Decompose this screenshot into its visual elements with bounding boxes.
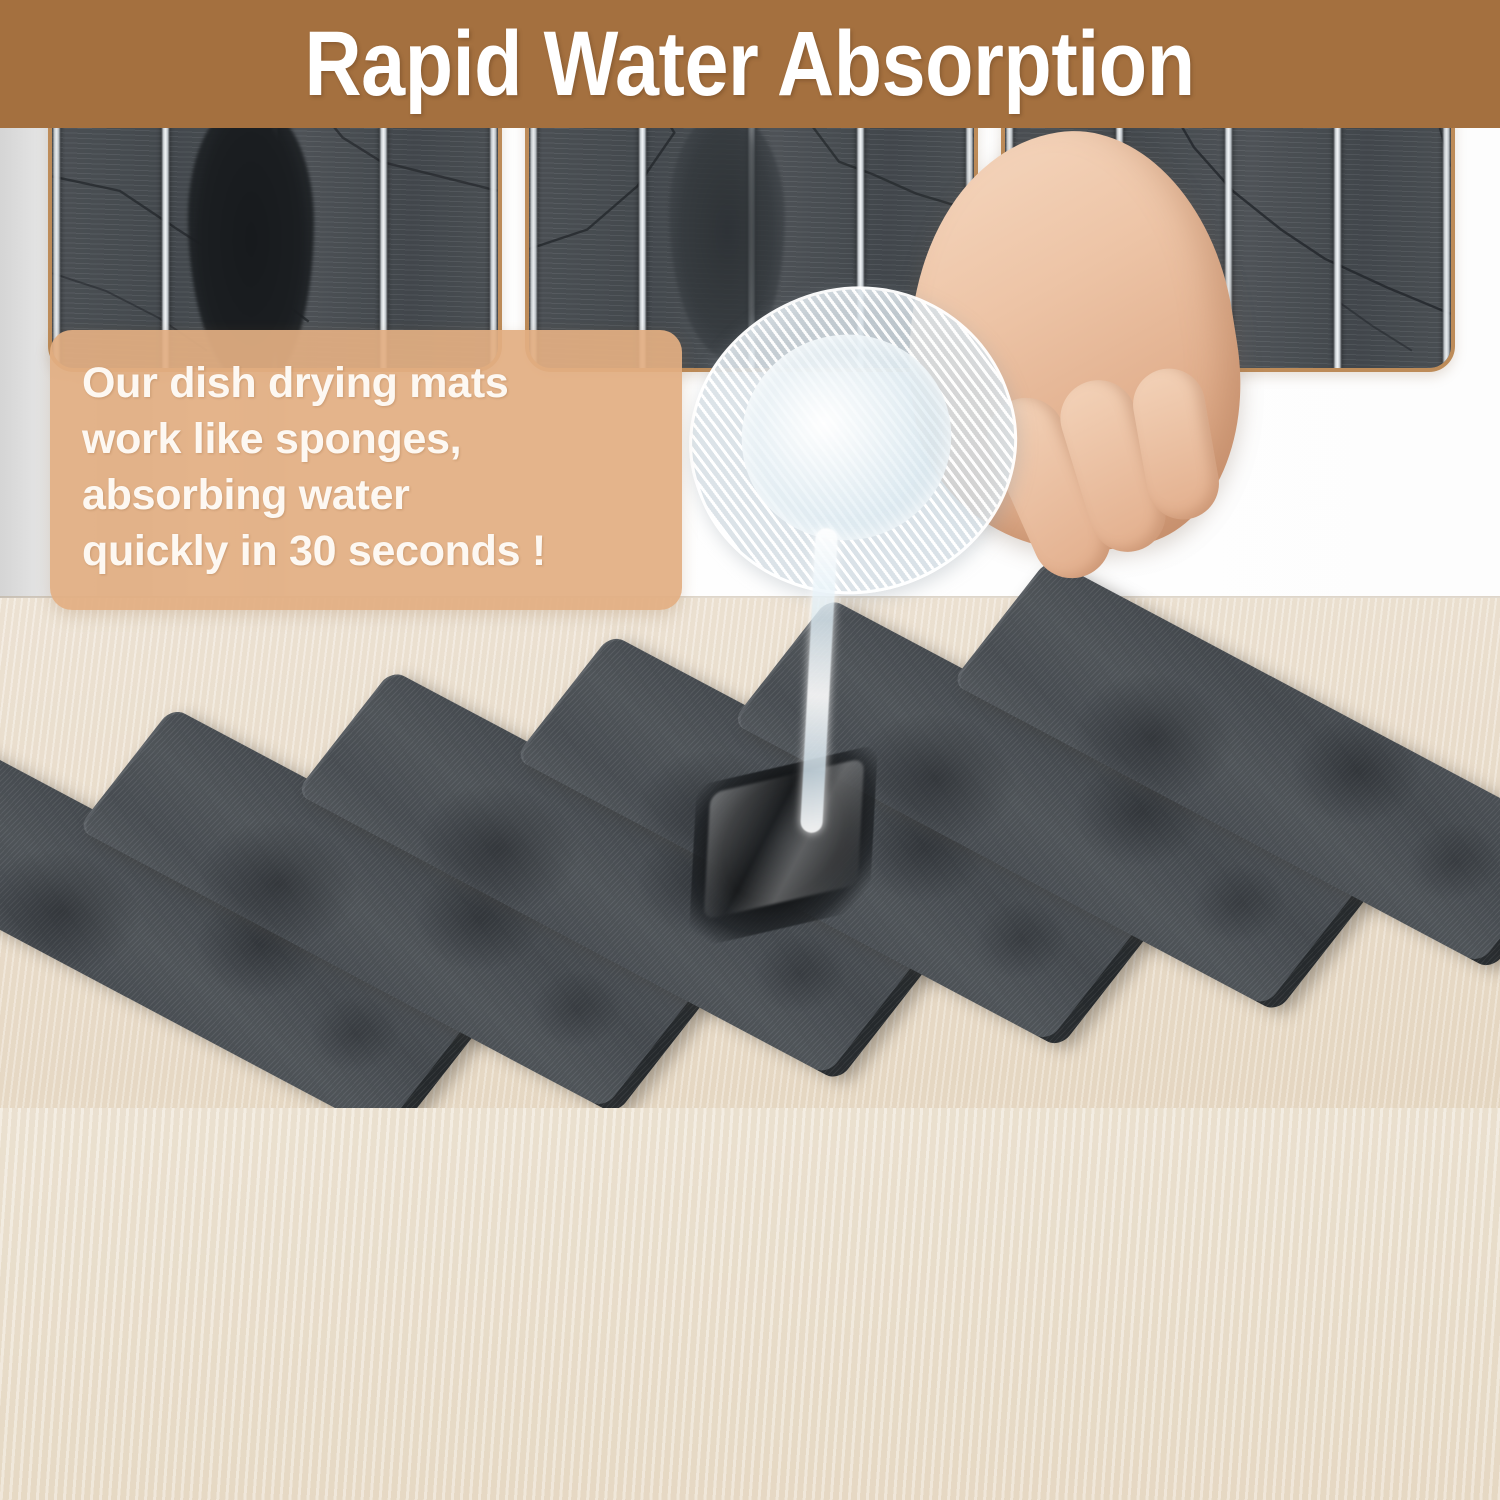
callout-text: Our dish drying mats work like sponges, … [82,356,652,580]
comparison-strip [0,1108,1500,1500]
header-banner: Rapid Water Absorption [0,0,1500,128]
infographic-page: Rapid Water Absorption Our dish drying m… [0,0,1500,1500]
glass-mouth [714,306,979,568]
callout-box: Our dish drying mats work like sponges, … [50,330,682,610]
page-title: Rapid Water Absorption [305,18,1195,110]
